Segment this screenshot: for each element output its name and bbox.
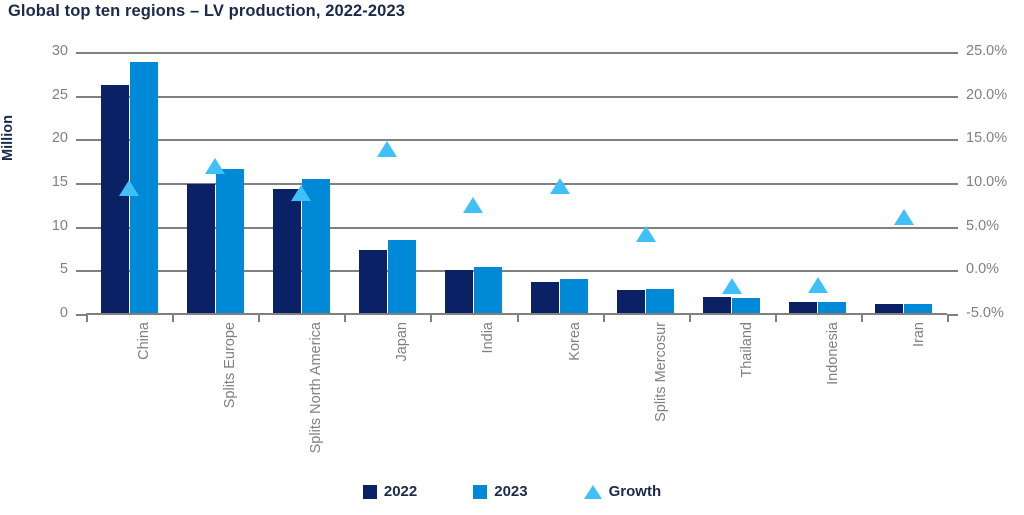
x-axis-tick-mark bbox=[258, 315, 260, 322]
triangle-icon bbox=[584, 485, 602, 499]
y2-axis-tick-mark bbox=[947, 227, 958, 229]
y-axis-tick-label: 20 bbox=[28, 131, 68, 146]
chart-root: Global top ten regions – LV production, … bbox=[0, 0, 1024, 515]
x-axis-tick-mark bbox=[689, 315, 691, 322]
x-axis-tick-mark bbox=[172, 315, 174, 322]
bar-2022 bbox=[445, 270, 473, 314]
legend-item-growth[interactable]: Growth bbox=[584, 483, 662, 500]
x-axis-category-label: Iran bbox=[911, 322, 927, 347]
growth-marker bbox=[808, 277, 828, 293]
y-axis-tick-label: 5 bbox=[28, 262, 68, 277]
bar-2022 bbox=[617, 290, 645, 314]
y2-axis-tick-label: -5.0% bbox=[966, 306, 1024, 321]
bar-2023 bbox=[560, 279, 588, 314]
y2-axis-tick-mark bbox=[947, 270, 958, 272]
y2-axis-tick-mark bbox=[947, 52, 958, 54]
x-axis-tick-mark bbox=[861, 315, 863, 322]
legend-item-2022[interactable]: 2022 bbox=[363, 483, 417, 500]
plot-area bbox=[86, 52, 947, 314]
growth-marker bbox=[205, 158, 225, 174]
bar-2023 bbox=[474, 267, 502, 314]
legend-label: 2023 bbox=[494, 483, 527, 500]
y-axis-tick-mark bbox=[76, 139, 86, 141]
x-axis-category-label: India bbox=[480, 322, 496, 353]
page-title: Global top ten regions – LV production, … bbox=[8, 2, 405, 21]
bar-2022 bbox=[101, 85, 129, 314]
growth-marker bbox=[894, 209, 914, 225]
legend-label: Growth bbox=[609, 483, 662, 500]
y2-axis-tick-label: 25.0% bbox=[966, 44, 1024, 59]
x-axis-category-label: Thailand bbox=[739, 322, 755, 378]
bar-2023 bbox=[732, 298, 760, 314]
y-axis-tick-label: 0 bbox=[28, 306, 68, 321]
gridline bbox=[86, 52, 947, 54]
y2-axis-tick-label: 0.0% bbox=[966, 262, 1024, 277]
x-axis-tick-mark bbox=[947, 315, 949, 322]
y2-axis-tick-label: 20.0% bbox=[966, 88, 1024, 103]
square-icon bbox=[363, 485, 377, 499]
y2-axis-tick-label: 10.0% bbox=[966, 175, 1024, 190]
bar-2022 bbox=[273, 189, 301, 314]
y-axis-title: Million bbox=[0, 115, 16, 161]
growth-marker bbox=[119, 180, 139, 196]
x-axis-category-label: Japan bbox=[394, 322, 410, 362]
y2-axis-tick-label: 5.0% bbox=[966, 219, 1024, 234]
x-axis-category-label: China bbox=[136, 322, 152, 360]
growth-marker bbox=[463, 197, 483, 213]
x-axis-category-label: Splits Mercosur bbox=[653, 322, 669, 422]
growth-marker bbox=[291, 185, 311, 201]
bar-2022 bbox=[359, 250, 387, 314]
x-axis-tick-mark bbox=[344, 315, 346, 322]
y2-axis-tick-label: 15.0% bbox=[966, 131, 1024, 146]
y2-axis-tick-mark bbox=[947, 96, 958, 98]
y-axis-tick-mark bbox=[76, 96, 86, 98]
legend-item-2023[interactable]: 2023 bbox=[473, 483, 527, 500]
x-axis-category-label: Splits Europe bbox=[222, 322, 238, 408]
bar-2023 bbox=[216, 169, 244, 314]
gridline bbox=[86, 96, 947, 98]
growth-marker bbox=[377, 141, 397, 157]
y-axis-tick-label: 30 bbox=[28, 44, 68, 59]
y-axis-tick-mark bbox=[76, 183, 86, 185]
bar-2022 bbox=[531, 282, 559, 314]
square-icon bbox=[473, 485, 487, 499]
y-axis-tick-label: 25 bbox=[28, 88, 68, 103]
x-axis-tick-mark bbox=[775, 315, 777, 322]
bar-2023 bbox=[646, 289, 674, 314]
y-axis-tick-mark bbox=[76, 270, 86, 272]
y-axis-tick-label: 15 bbox=[28, 175, 68, 190]
y-axis-tick-mark bbox=[76, 314, 86, 316]
y2-axis-tick-mark bbox=[947, 139, 958, 141]
x-axis-tick-mark bbox=[517, 315, 519, 322]
y-axis-tick-mark bbox=[76, 227, 86, 229]
y-axis-tick-mark bbox=[76, 52, 86, 54]
bar-2023 bbox=[388, 240, 416, 314]
x-axis-tick-mark bbox=[86, 315, 88, 322]
x-axis-category-label: Splits North America bbox=[308, 322, 324, 453]
growth-marker bbox=[722, 278, 742, 294]
growth-marker bbox=[636, 226, 656, 242]
x-axis-category-label: Korea bbox=[567, 322, 583, 361]
x-axis-tick-mark bbox=[603, 315, 605, 322]
x-axis-tick-mark bbox=[430, 315, 432, 322]
growth-marker bbox=[550, 178, 570, 194]
chart-legend: 20222023Growth bbox=[0, 483, 1024, 500]
y2-axis-tick-mark bbox=[947, 183, 958, 185]
x-axis-category-label: Indonesia bbox=[825, 322, 841, 385]
legend-label: 2022 bbox=[384, 483, 417, 500]
y-axis-tick-label: 10 bbox=[28, 219, 68, 234]
gridline bbox=[86, 139, 947, 141]
bar-2022 bbox=[703, 297, 731, 314]
bar-2022 bbox=[187, 184, 215, 314]
